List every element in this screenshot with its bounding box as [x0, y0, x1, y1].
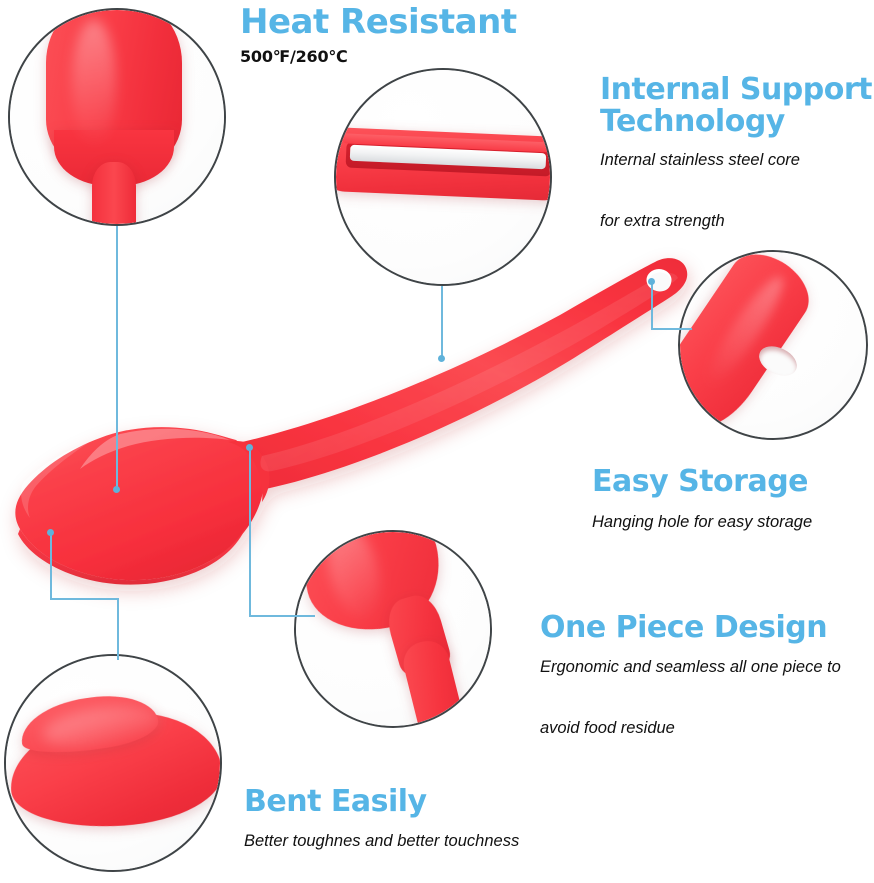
feature-subtitle-bent-easily: Better toughnes and better touchness [244, 826, 519, 857]
callout-hanging-hole-closeup [678, 250, 868, 440]
connector-easy-storage-vertical [651, 282, 653, 329]
feature-subtitle-heat-resistant: 500℉/260℃ [240, 47, 348, 66]
callout-steel-core-closeup [334, 68, 552, 286]
connector-internal-support [441, 286, 443, 360]
callout-image-bent-edge [6, 656, 220, 870]
product-infographic: Heat Resistant 500℉/260℃ Internal Suppor… [0, 0, 874, 883]
feature-title-heat-resistant: Heat Resistant [240, 4, 517, 41]
zoom-head-highlight [72, 20, 116, 148]
zoom-head-neck [92, 162, 136, 224]
feature-title-bent-easily: Bent Easily [244, 786, 427, 818]
callout-image-steel-core [336, 70, 550, 284]
connector-one-piece-horizontal [249, 615, 315, 617]
connector-bent-easily-v1 [50, 533, 52, 599]
anchor-dot-bent-easily [47, 529, 54, 536]
anchor-dot-easy-storage [648, 278, 655, 285]
connector-heat-resistant [116, 226, 118, 490]
feature-title-easy-storage: Easy Storage [592, 466, 808, 498]
callout-image-hanging-hole [680, 252, 866, 438]
zoom-op-handle [399, 636, 475, 726]
callout-spatula-head-closeup [8, 8, 226, 226]
callout-image-one-piece [296, 532, 490, 726]
feature-subtitle-one-piece-design: Ergonomic and seamless all one piece to … [540, 652, 841, 744]
feature-title-one-piece-design: One Piece Design [540, 612, 827, 644]
anchor-dot-heat-resistant [113, 486, 120, 493]
callout-image-spatula-head [10, 10, 224, 224]
anchor-dot-internal-support [438, 355, 445, 362]
connector-easy-storage-horizontal [651, 328, 692, 330]
connector-one-piece-vertical [249, 448, 251, 616]
feature-subtitle-internal-support: Internal stainless steel core for extra … [600, 145, 800, 237]
callout-bent-edge-closeup [4, 654, 222, 872]
feature-subtitle-easy-storage: Hanging hole for easy storage [592, 507, 812, 538]
anchor-dot-one-piece [246, 444, 253, 451]
connector-bent-easily-v2 [117, 598, 119, 660]
feature-title-internal-support: Internal Support Technology [600, 74, 872, 139]
callout-one-piece-closeup [294, 530, 492, 728]
connector-bent-easily-h1 [50, 598, 118, 600]
